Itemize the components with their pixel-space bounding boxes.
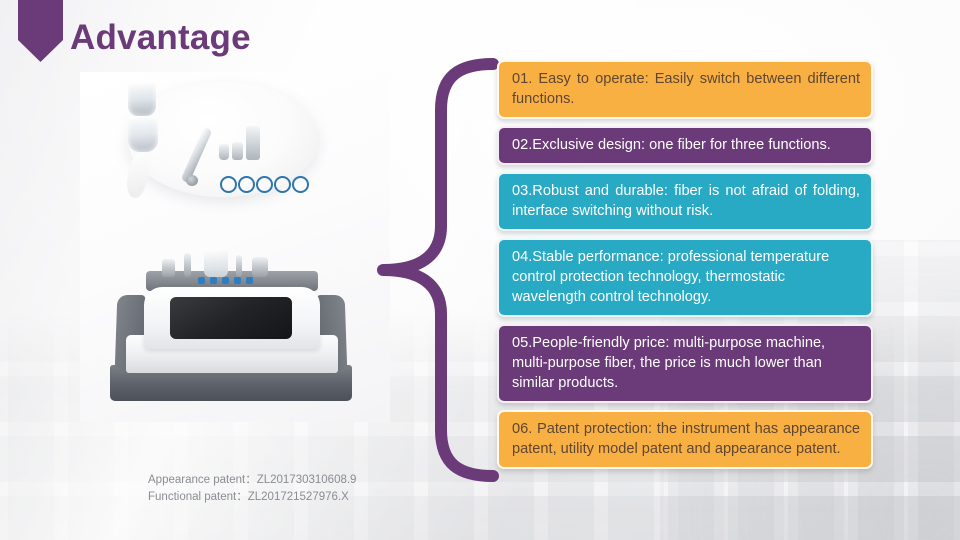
advantage-box-01[interactable]: 01. Easy to operate: Easily switch betwe… — [497, 60, 873, 119]
machine-led-3 — [222, 277, 229, 284]
machine-tool-3 — [204, 249, 228, 277]
machine-led-1 — [198, 277, 205, 284]
ribbon-banner-icon — [18, 0, 63, 62]
advantage-text-06: 06. Patent protection: the instrument ha… — [512, 419, 860, 459]
blue-ring-4-icon — [274, 176, 291, 193]
machine-led-4 — [234, 277, 241, 284]
appearance-patent-line: Appearance patent：ZL201730310608.9 — [148, 472, 356, 489]
advantage-box-02[interactable]: 02.Exclusive design: one fiber for three… — [497, 126, 873, 165]
advantage-box-03[interactable]: 03.Robust and durable: fiber is not afra… — [497, 172, 873, 231]
machine-tool-4 — [236, 255, 242, 277]
machine-led-5 — [246, 277, 253, 284]
page-title: Advantage — [70, 18, 251, 58]
beauty-machine-photo — [100, 247, 362, 412]
machine-tool-1 — [162, 259, 175, 277]
small-tip-2-icon — [232, 142, 243, 160]
machine-tool-2 — [184, 253, 191, 277]
small-tip-1-icon — [219, 144, 229, 160]
advantage-text-05: 05.People-friendly price: multi-purpose … — [512, 333, 860, 393]
advantage-list: 01. Easy to operate: Easily switch betwe… — [497, 60, 873, 476]
advantage-text-03: 03.Robust and durable: fiber is not afra… — [512, 181, 860, 221]
slide-canvas: Advantage — [0, 0, 960, 540]
product-photo-panel — [80, 72, 390, 422]
small-tip-3-icon — [246, 126, 260, 160]
probe-tip-icon — [186, 175, 198, 186]
advantage-text-02: 02.Exclusive design: one fiber for three… — [512, 135, 860, 155]
machine-tool-5 — [252, 257, 268, 277]
blue-ring-2-icon — [238, 176, 255, 193]
probe-wand-icon — [181, 127, 213, 184]
machine-led-2 — [210, 277, 217, 284]
advantage-text-04: 04.Stable performance: professional temp… — [512, 247, 860, 307]
machine-touchscreen — [170, 297, 292, 339]
advantage-box-06[interactable]: 06. Patent protection: the instrument ha… — [497, 410, 873, 469]
advantage-text-01: 01. Easy to operate: Easily switch betwe… — [512, 69, 860, 109]
blue-ring-1-icon — [220, 176, 237, 193]
advantage-box-04[interactable]: 04.Stable performance: professional temp… — [497, 238, 873, 317]
blue-ring-3-icon — [256, 176, 273, 193]
accessory-tips-photo — [128, 82, 318, 197]
blue-ring-5-icon — [292, 176, 309, 193]
advantage-box-05[interactable]: 05.People-friendly price: multi-purpose … — [497, 324, 873, 403]
functional-patent-line: Functional patent：ZL201721527976.X — [148, 489, 356, 506]
glass-cup-1-icon — [128, 82, 156, 116]
patent-notes: Appearance patent：ZL201730310608.9 Funct… — [148, 472, 356, 506]
glass-cup-2-icon — [128, 116, 158, 152]
curly-brace-icon — [375, 58, 500, 482]
